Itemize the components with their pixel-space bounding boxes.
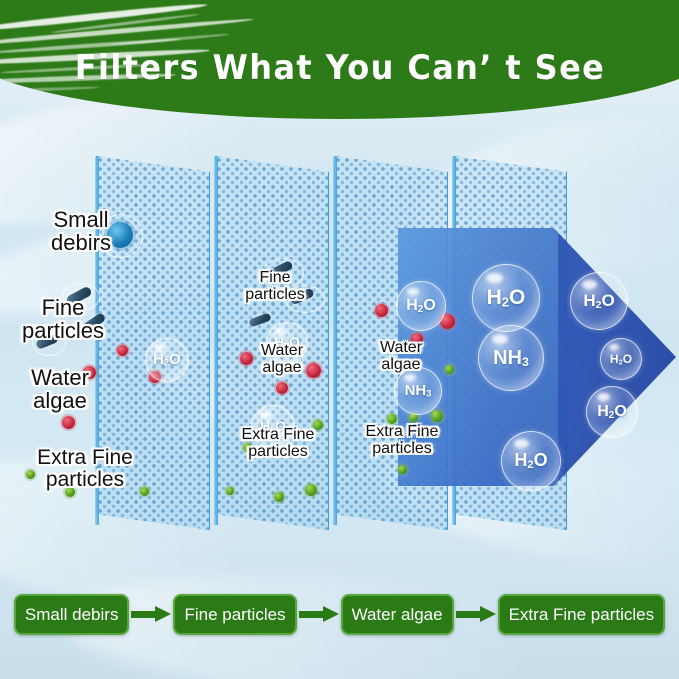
flow-step-water-algae[interactable]: Water algae: [341, 594, 454, 635]
bubble-highlight: [492, 334, 509, 344]
h2o-bubble: H2O: [600, 338, 642, 380]
h2o-bubble: H2O: [396, 281, 446, 331]
label-line-2: particles: [233, 287, 317, 304]
label-line-1: Water: [10, 366, 110, 389]
bubble-highlight: [514, 439, 529, 448]
label-line-1: Water: [365, 340, 437, 357]
extra-fine-particle: [445, 365, 454, 374]
bubble-label: NH3: [405, 383, 432, 399]
label-water-algae-stage3: Water algae: [365, 340, 437, 374]
header-banner: Filters What You Can’ t See: [0, 0, 679, 119]
h2o-bubble: H2O: [586, 386, 638, 438]
arrow-shaft: [299, 611, 325, 618]
bubble-label: H2O: [514, 451, 547, 471]
water-algae-particle: [276, 382, 288, 394]
nh3-bubble: NH3: [478, 325, 544, 391]
h2o-bubble: H2O: [145, 338, 189, 382]
label-extra-fine-stage2: Extra Fine particles: [231, 427, 325, 461]
label-extra-fine-stage3: Extra Fine particles: [355, 424, 449, 458]
label-line-1: Water: [246, 343, 318, 360]
bubble-label: H2O: [153, 352, 181, 368]
bubble-highlight: [275, 328, 285, 334]
bubble-highlight: [609, 344, 619, 350]
label-line-2: algae: [10, 389, 110, 412]
page-title: Filters What You Can’ t See: [0, 48, 679, 88]
label-line-1: Small: [26, 208, 136, 231]
label-line-2: particles: [22, 469, 148, 491]
infographic-stage: H2O H2O H2O H2O NH3 H2O NH3 H2O H2O H2O: [0, 0, 679, 679]
arrow-shaft: [131, 611, 157, 618]
label-line-2: particles: [355, 441, 449, 458]
label-line-2: particles: [231, 444, 325, 461]
bubble-highlight: [597, 393, 610, 401]
label-line-1: Extra Fine: [355, 424, 449, 441]
water-algae-particle: [375, 304, 388, 317]
label-fine-particles: Fine particles: [8, 296, 118, 342]
label-water-algae: Water algae: [10, 366, 110, 412]
label-water-algae-stage2: Water algae: [246, 343, 318, 377]
filter-panel-edge: [333, 157, 337, 525]
label-line-1: Extra Fine: [22, 447, 148, 469]
label-line-1: Extra Fine: [231, 427, 325, 444]
label-line-1: Fine: [233, 270, 317, 287]
h2o-bubble: H2O: [501, 431, 561, 491]
label-line-2: algae: [365, 357, 437, 374]
label-line-2: debirs: [26, 231, 136, 254]
flow-arrow-icon: [129, 607, 173, 621]
label-line-1: Fine: [8, 296, 118, 319]
label-fine-particles-stage2: Fine particles: [233, 270, 317, 304]
flow-step-small-debris[interactable]: Small debirs: [14, 594, 130, 635]
bubble-highlight: [407, 288, 419, 296]
label-line-2: particles: [8, 319, 118, 342]
extra-fine-particle: [431, 410, 443, 422]
bubble-label: H2O: [406, 298, 436, 315]
bubble-label: H2O: [487, 287, 526, 308]
bubble-highlight: [154, 344, 165, 351]
bubble-highlight: [486, 273, 503, 284]
label-line-2: algae: [246, 360, 318, 377]
filter-panel-edge: [214, 157, 218, 525]
bubble-highlight: [404, 374, 416, 381]
extra-fine-particle: [398, 465, 407, 474]
bubble-label: H2O: [610, 353, 632, 366]
bubble-label: H2O: [583, 292, 614, 310]
bubble-label: H2O: [597, 404, 627, 421]
h2o-bubble: H2O: [472, 264, 540, 332]
nh3-bubble: NH3: [394, 367, 442, 415]
arrow-head: [155, 606, 171, 622]
arrow-shaft: [456, 611, 482, 618]
extra-fine-particle: [305, 484, 317, 496]
flow-step-extra-fine-particles[interactable]: Extra Fine particles: [498, 594, 666, 635]
bubble-highlight: [260, 411, 271, 418]
water-algae-particle: [62, 416, 75, 429]
flow-arrow-icon: [454, 607, 498, 621]
label-small-debris: Small debirs: [26, 208, 136, 254]
bubble-label: NH3: [493, 348, 529, 369]
extra-fine-particle: [226, 487, 234, 495]
flow-arrow-icon: [297, 607, 341, 621]
bubble-highlight: [582, 280, 597, 289]
water-algae-particle: [117, 345, 128, 356]
brush-stroke: [110, 33, 230, 46]
arrow-head: [323, 606, 339, 622]
flow-step-fine-particles[interactable]: Fine particles: [173, 594, 296, 635]
arrow-head: [480, 606, 496, 622]
h2o-bubble: H2O: [570, 272, 628, 330]
filtration-flow: Small debirs Fine particles Water algae …: [0, 590, 679, 638]
label-extra-fine-particles: Extra Fine particles: [22, 447, 148, 491]
extra-fine-particle: [274, 492, 284, 502]
